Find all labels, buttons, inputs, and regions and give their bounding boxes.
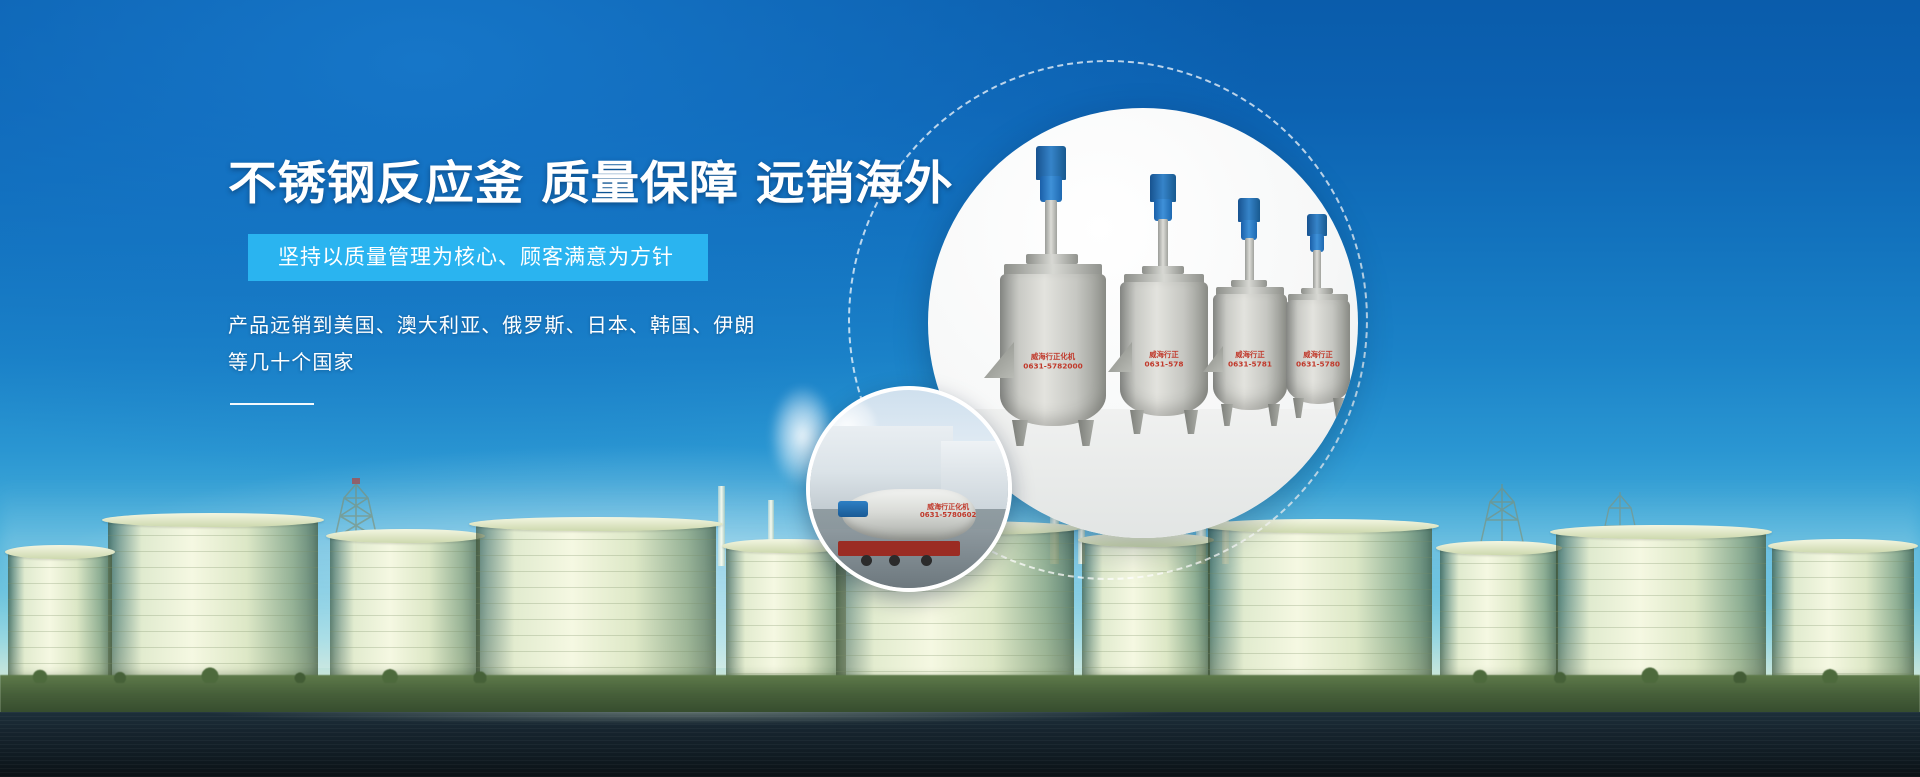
water-surface (0, 712, 1920, 777)
vessel-leg (1130, 410, 1144, 434)
tanker-label: 威海行正化机 0631-5780602 (920, 503, 976, 520)
vessel-leg (1268, 404, 1280, 426)
storage-tank (108, 520, 318, 680)
vessel-label: 威海行正 0631-5781 (1219, 351, 1282, 369)
storage-tank (1556, 532, 1766, 684)
vessel-flange (1026, 254, 1078, 264)
vessel-body (1000, 274, 1106, 426)
vessel-neck (1313, 250, 1321, 290)
tanker-blue-head (838, 501, 868, 517)
vessel-leg (1012, 420, 1028, 446)
vessel-leg (1293, 398, 1304, 418)
motor-cap (1307, 214, 1327, 236)
reactor-vessel-4: 威海行正 0631-5780 (1280, 214, 1358, 428)
vessel-body (1120, 282, 1208, 416)
banner-copy: 不锈钢反应釜 质量保障 远销海外 坚持以质量管理为核心、顾客满意为方针 产品远销… (228, 158, 948, 405)
hero-banner: 威海行正化机 0631-5782000 威海行正 0631-578 (0, 0, 1920, 777)
vessel-neck (1158, 219, 1168, 269)
banner-headline: 不锈钢反应釜 质量保障 远销海外 (228, 158, 991, 210)
vessel-flange (1231, 280, 1267, 287)
drive-motor (1241, 220, 1257, 240)
factory-photo-tanker: 威海行正化机 0631-5780602 (806, 386, 1012, 592)
storage-tank (330, 536, 480, 680)
paragraph-line-1: 产品远销到美国、澳大利亚、俄罗斯、日本、韩国、伊朗 (228, 307, 948, 344)
drive-motor (1040, 176, 1062, 202)
motor-cap (1036, 146, 1066, 180)
banner-paragraph: 产品远销到美国、澳大利亚、俄罗斯、日本、韩国、伊朗 等几十个国家 (228, 307, 948, 381)
vessel-label: 威海行正 0631-5780 (1290, 351, 1345, 369)
storage-tank (1208, 526, 1432, 684)
storage-tank (1440, 548, 1558, 682)
drive-motor (1154, 199, 1172, 221)
storage-tank (1772, 546, 1914, 684)
reactor-vessel-1: 威海行正化机 0631-5782000 (990, 146, 1120, 446)
vessel-label: 威海行正 0631-578 (1127, 351, 1201, 369)
motor-cap (1238, 198, 1260, 222)
horizontal-rule-divider (230, 403, 314, 405)
vessel-leg (1078, 420, 1094, 446)
vessel-neck (1045, 200, 1057, 258)
vessel-leg (1333, 398, 1344, 418)
vessel-leg (1184, 410, 1198, 434)
storage-tank (8, 552, 112, 682)
storage-tank (476, 524, 716, 682)
vessel-flange (1142, 266, 1184, 274)
motor-cap (1150, 174, 1176, 202)
truck-chassis (838, 541, 961, 557)
banner-slogan-highlight: 坚持以质量管理为核心、顾客满意为方针 (248, 234, 708, 281)
water-ripples (0, 712, 1920, 777)
vessel-neck (1245, 238, 1254, 282)
vessel-label: 威海行正化机 0631-5782000 (1010, 353, 1096, 371)
paragraph-line-2: 等几十个国家 (228, 344, 948, 381)
vessel-leg (1221, 404, 1233, 426)
reactor-vessel-2: 威海行正 0631-578 (1112, 174, 1220, 440)
